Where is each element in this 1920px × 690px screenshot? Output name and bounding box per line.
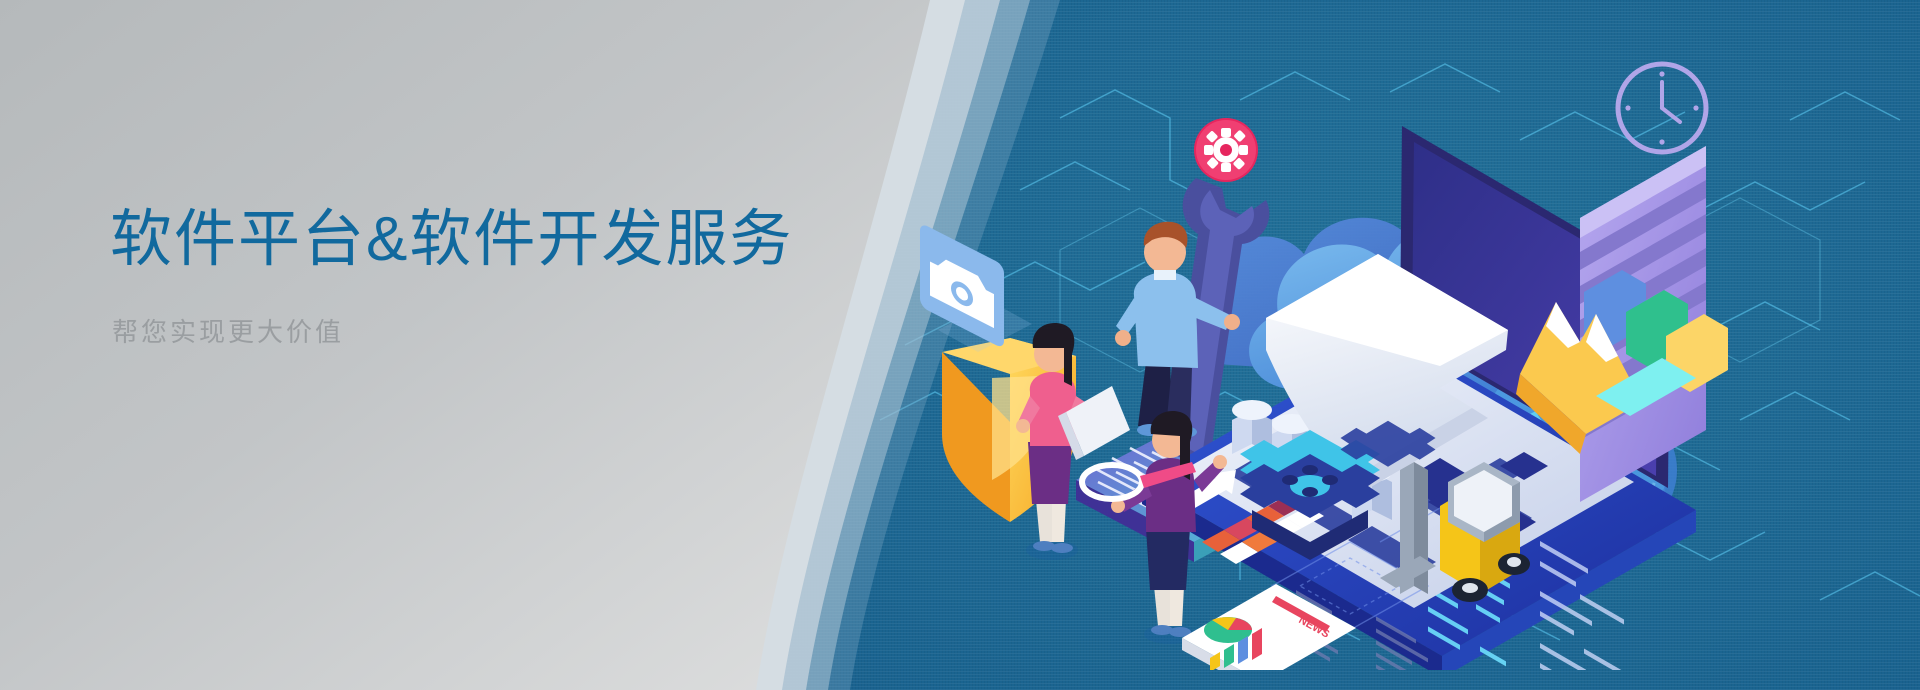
page-title: 软件平台&软件开发服务 <box>110 205 793 274</box>
hero-banner: 软件平台&软件开发服务 帮您实现更大价值 <box>0 0 1920 690</box>
document-panel <box>1580 64 1728 502</box>
gear-badge-icon <box>1194 118 1258 182</box>
camera-icon <box>920 222 1032 352</box>
clock-icon <box>1618 64 1706 152</box>
hero-copy: 软件平台&软件开发服务 帮您实现更大价值 <box>110 205 793 349</box>
isometric-illustration: NEWS <box>880 30 1920 670</box>
page-subtitle: 帮您实现更大价值 <box>112 312 793 349</box>
